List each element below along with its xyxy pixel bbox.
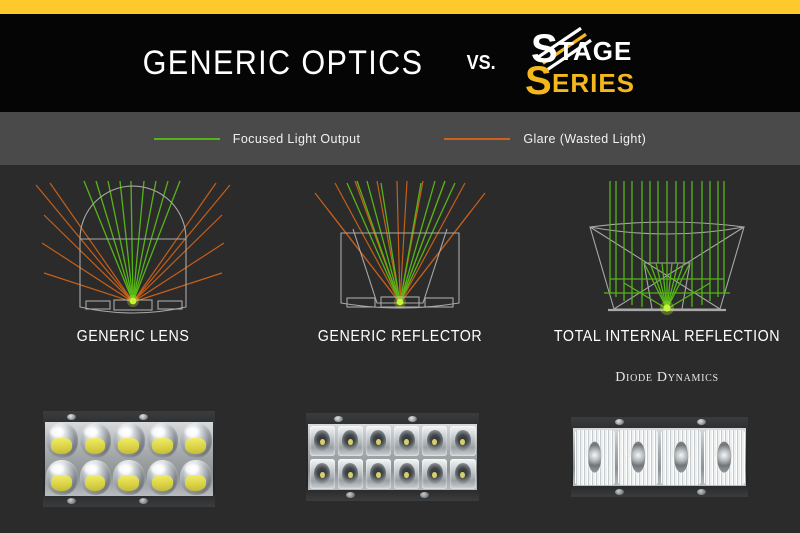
stage-series-logo: S TAGE S ERIES TAGE ERIES — [523, 26, 673, 100]
brand-diode-dynamics: Diode Dynamics — [534, 370, 800, 386]
legend-swatch-green-icon — [154, 138, 220, 140]
caption-generic-reflector: GENERIC REFLECTOR — [278, 328, 523, 346]
versus-label: VS. — [466, 52, 495, 75]
caption-generic-lens: GENERIC LENS — [11, 328, 256, 346]
legend-label-glare: Glare (Wasted Light) — [523, 132, 646, 146]
tir-diagram — [534, 167, 800, 325]
header: GENERIC OPTICS VS. S TAGE S — [0, 14, 800, 112]
comparison-body: GENERIC LENS — [0, 165, 800, 533]
page-title-left: GENERIC OPTICS — [143, 44, 424, 83]
generic-lens-diagram — [0, 167, 266, 325]
svg-text:S: S — [525, 59, 552, 100]
legend-item-focused: Focused Light Output — [154, 132, 361, 146]
infographic-root: GENERIC OPTICS VS. S TAGE S — [0, 0, 800, 533]
caption-tir: TOTAL INTERNAL REFLECTION — [545, 328, 790, 346]
legend-label-focused: Focused Light Output — [233, 132, 361, 146]
svg-text:TAGE: TAGE — [558, 36, 632, 66]
legend-swatch-orange-icon — [444, 138, 510, 140]
generic-reflector-diagram — [267, 167, 533, 325]
legend-item-glare: Glare (Wasted Light) — [444, 132, 646, 146]
generic-lens-photo — [43, 411, 215, 507]
accent-bar — [0, 0, 800, 14]
svg-text:ERIES: ERIES — [552, 68, 635, 98]
legend: Focused Light Output Glare (Wasted Light… — [0, 112, 800, 165]
tir-photo — [571, 417, 748, 497]
generic-reflector-photo — [306, 413, 479, 501]
column-generic-reflector: GENERIC REFLECTOR — [267, 165, 533, 533]
column-tir: TOTAL INTERNAL REFLECTION Diode Dynamics — [534, 165, 800, 533]
column-generic-lens: GENERIC LENS — [0, 165, 266, 533]
